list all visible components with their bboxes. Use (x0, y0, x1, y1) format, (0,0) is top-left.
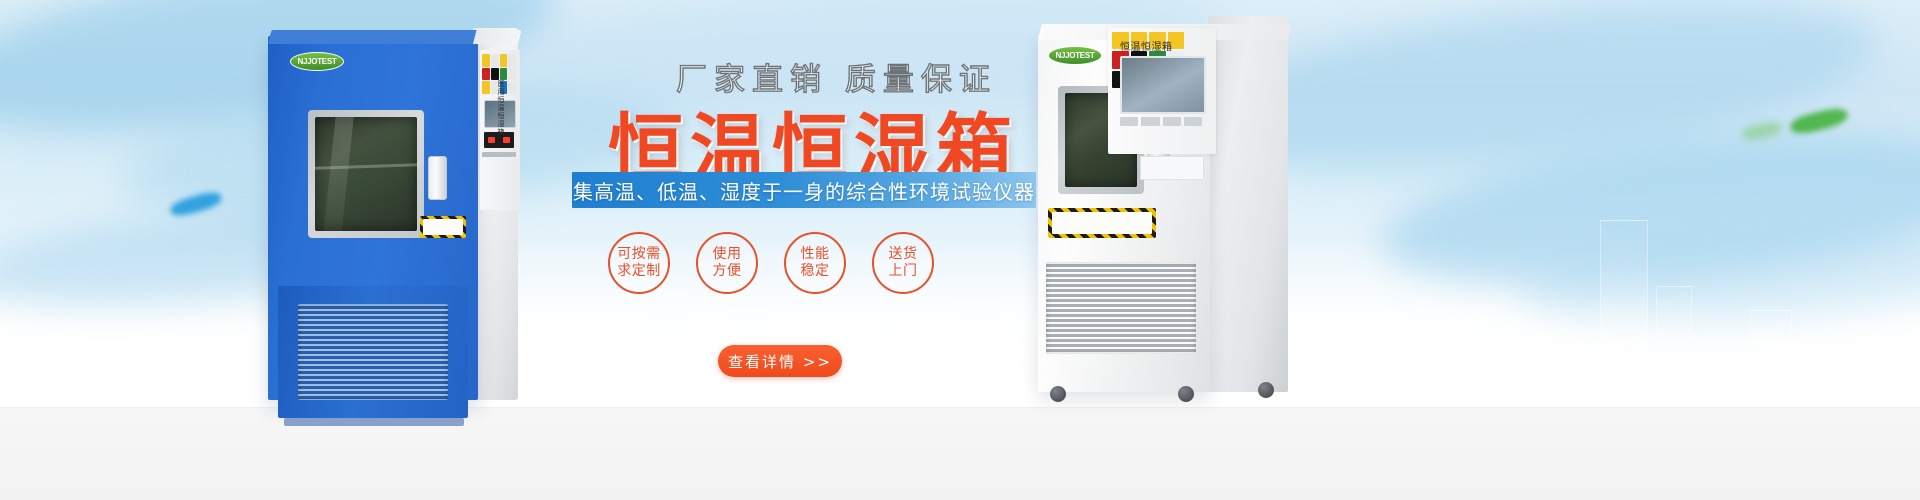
feature-line-2: 求定制 (617, 263, 661, 280)
city-skyline-right (1600, 208, 1900, 408)
building-shape (922, 344, 950, 408)
feature-line-1: 送货 (889, 246, 918, 263)
chamber-door-handle (428, 156, 447, 200)
building-shape (1656, 286, 1692, 408)
feature-line-1: 使用 (713, 246, 742, 263)
view-details-button[interactable]: 查看详情 >> (718, 345, 842, 377)
building-shape (646, 294, 688, 408)
brand-logo-text: NJJOTEST (298, 57, 337, 66)
ventilation-grille (298, 304, 448, 400)
brand-logo-oval: NJJOTEST (290, 52, 344, 71)
building-shape (570, 314, 606, 408)
control-keypad (1120, 114, 1202, 128)
building-shape (868, 282, 914, 408)
building-shape (1806, 336, 1838, 408)
product-image-right-chamber: NJJOTEST 恒温恒湿箱 (1020, 10, 1288, 402)
feature-badges: 可按需 求定制 使用 方便 性能 稳定 送货 上门 (608, 232, 934, 294)
panel-nameplate (482, 152, 516, 157)
product-image-left-chamber: NJJOTEST 医用恒温恒湿箱 (268, 28, 518, 400)
warning-label (1048, 208, 1156, 238)
chamber-base (284, 418, 464, 426)
view-details-label: 查看详情 >> (728, 351, 832, 372)
caster-wheel (1258, 382, 1274, 398)
chamber-side-panel (1208, 16, 1288, 392)
control-display (1120, 56, 1206, 114)
feature-line-1: 性能 (801, 246, 830, 263)
chamber-window-frame (308, 110, 424, 238)
building-shape (958, 302, 998, 408)
feature-line-1: 可按需 (617, 246, 661, 263)
building-shape (1600, 220, 1648, 408)
building-shape (1750, 310, 1792, 408)
feature-line-2: 方便 (713, 263, 742, 280)
chamber-window-glass (315, 117, 417, 231)
ventilation-grille (1046, 262, 1196, 354)
brand-logo-oval: NJJOTEST (1048, 46, 1102, 65)
feature-badge[interactable]: 性能 稳定 (784, 232, 846, 294)
chamber-lower-section (278, 286, 468, 418)
building-shape (612, 340, 640, 408)
feature-line-2: 上门 (889, 263, 918, 280)
building-shape (694, 332, 724, 408)
feature-badge[interactable]: 可按需 求定制 (608, 232, 670, 294)
panel-label: 恒温恒湿箱 (1120, 38, 1173, 53)
caster-wheel (1178, 386, 1194, 402)
panel-vertical-label: 医用恒温恒湿箱 (496, 80, 506, 136)
green-leaf-accent (1789, 105, 1850, 136)
feature-badge[interactable]: 送货 上门 (872, 232, 934, 294)
caster-wheel (1050, 386, 1066, 402)
chamber-top (268, 30, 521, 44)
warning-label (420, 216, 466, 238)
feature-badge[interactable]: 使用 方便 (696, 232, 758, 294)
feature-line-2: 稳定 (801, 263, 830, 280)
promo-banner: NJJOTEST 医用恒温恒湿箱 NJJOTEST (0, 0, 1920, 500)
subtitle-bar: 集高温、低温、湿度于一身的综合性环境试验仪器 (572, 172, 1036, 208)
brand-logo-text: NJJOTEST (1056, 51, 1095, 60)
subtitle-text: 集高温、低温、湿度于一身的综合性环境试验仪器 (573, 176, 1035, 205)
info-plate (1140, 156, 1204, 180)
